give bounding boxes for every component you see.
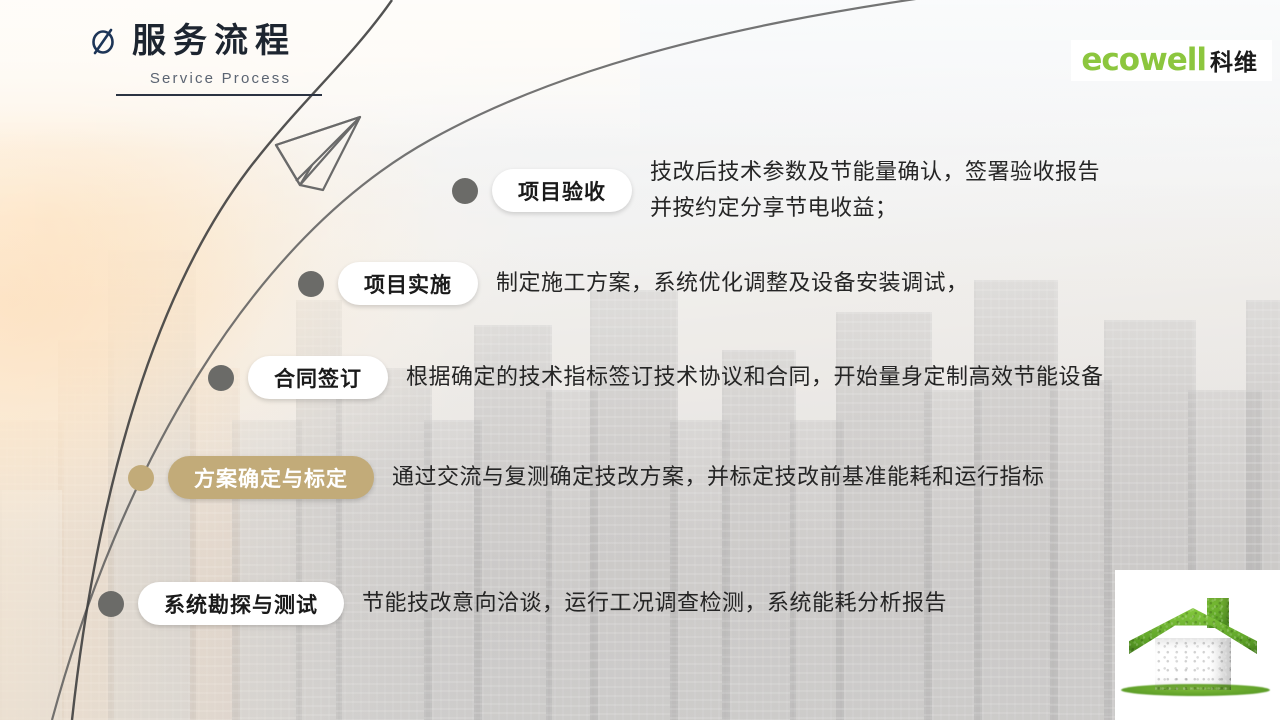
step-pill[interactable]: 合同签订	[248, 356, 388, 399]
step-dot	[452, 178, 478, 204]
step-description: 节能技改意向洽谈，运行工况调查检测，系统能耗分析报告	[362, 586, 947, 622]
process-step-5[interactable]: 系统勘探与测试 节能技改意向洽谈，运行工况调查检测，系统能耗分析报告	[98, 582, 947, 625]
step-pill[interactable]: 系统勘探与测试	[138, 582, 344, 625]
green-grass-house-image	[1115, 570, 1280, 720]
step-dot	[128, 465, 154, 491]
step-dot	[208, 365, 234, 391]
step-label: 合同签订	[274, 363, 362, 393]
step-pill[interactable]: 方案确定与标定	[168, 456, 374, 499]
brand-logo: ecowell 科维	[1071, 40, 1272, 81]
process-step-2[interactable]: 项目实施 制定施工方案，系统优化调整及设备安装调试，	[298, 262, 969, 305]
step-label: 系统勘探与测试	[164, 589, 318, 619]
step-description: 技改后技术参数及节能量确认，签署验收报告 并按约定分享节电收益；	[650, 155, 1100, 226]
step-description: 制定施工方案，系统优化调整及设备安装调试，	[496, 266, 969, 302]
step-description: 通过交流与复测确定技改方案，并标定技改前基准能耗和运行指标	[392, 460, 1045, 496]
process-step-4[interactable]: 方案确定与标定 通过交流与复测确定技改方案，并标定技改前基准能耗和运行指标	[128, 456, 1045, 499]
title-divider	[116, 94, 322, 96]
step-label: 项目验收	[518, 176, 606, 206]
step-label: 方案确定与标定	[194, 463, 348, 493]
page-title: 服务流程	[132, 24, 296, 58]
brand-name-cn: 科维	[1210, 52, 1258, 75]
step-pill[interactable]: 项目实施	[338, 262, 478, 305]
step-description: 根据确定的技术指标签订技术协议和合同，开始量身定制高效节能设备	[406, 360, 1104, 396]
step-dot	[98, 591, 124, 617]
step-dot	[298, 271, 324, 297]
slashed-circle-icon	[88, 26, 118, 56]
step-pill[interactable]: 项目验收	[492, 169, 632, 212]
page-subtitle: Service Process	[108, 70, 333, 87]
process-step-1[interactable]: 项目验收 技改后技术参数及节能量确认，签署验收报告 并按约定分享节电收益；	[452, 155, 1100, 226]
slide-canvas: 服务流程 Service Process ecowell 科维 项目验收 技改后…	[0, 0, 1280, 720]
step-label: 项目实施	[364, 269, 452, 299]
house-body	[1155, 638, 1231, 690]
paper-plane-icon	[276, 117, 360, 190]
brand-name-en: ecowell	[1081, 45, 1206, 76]
process-step-3[interactable]: 合同签订 根据确定的技术指标签订技术协议和合同，开始量身定制高效节能设备	[208, 356, 1104, 399]
page-header: 服务流程 Service Process	[88, 24, 333, 96]
